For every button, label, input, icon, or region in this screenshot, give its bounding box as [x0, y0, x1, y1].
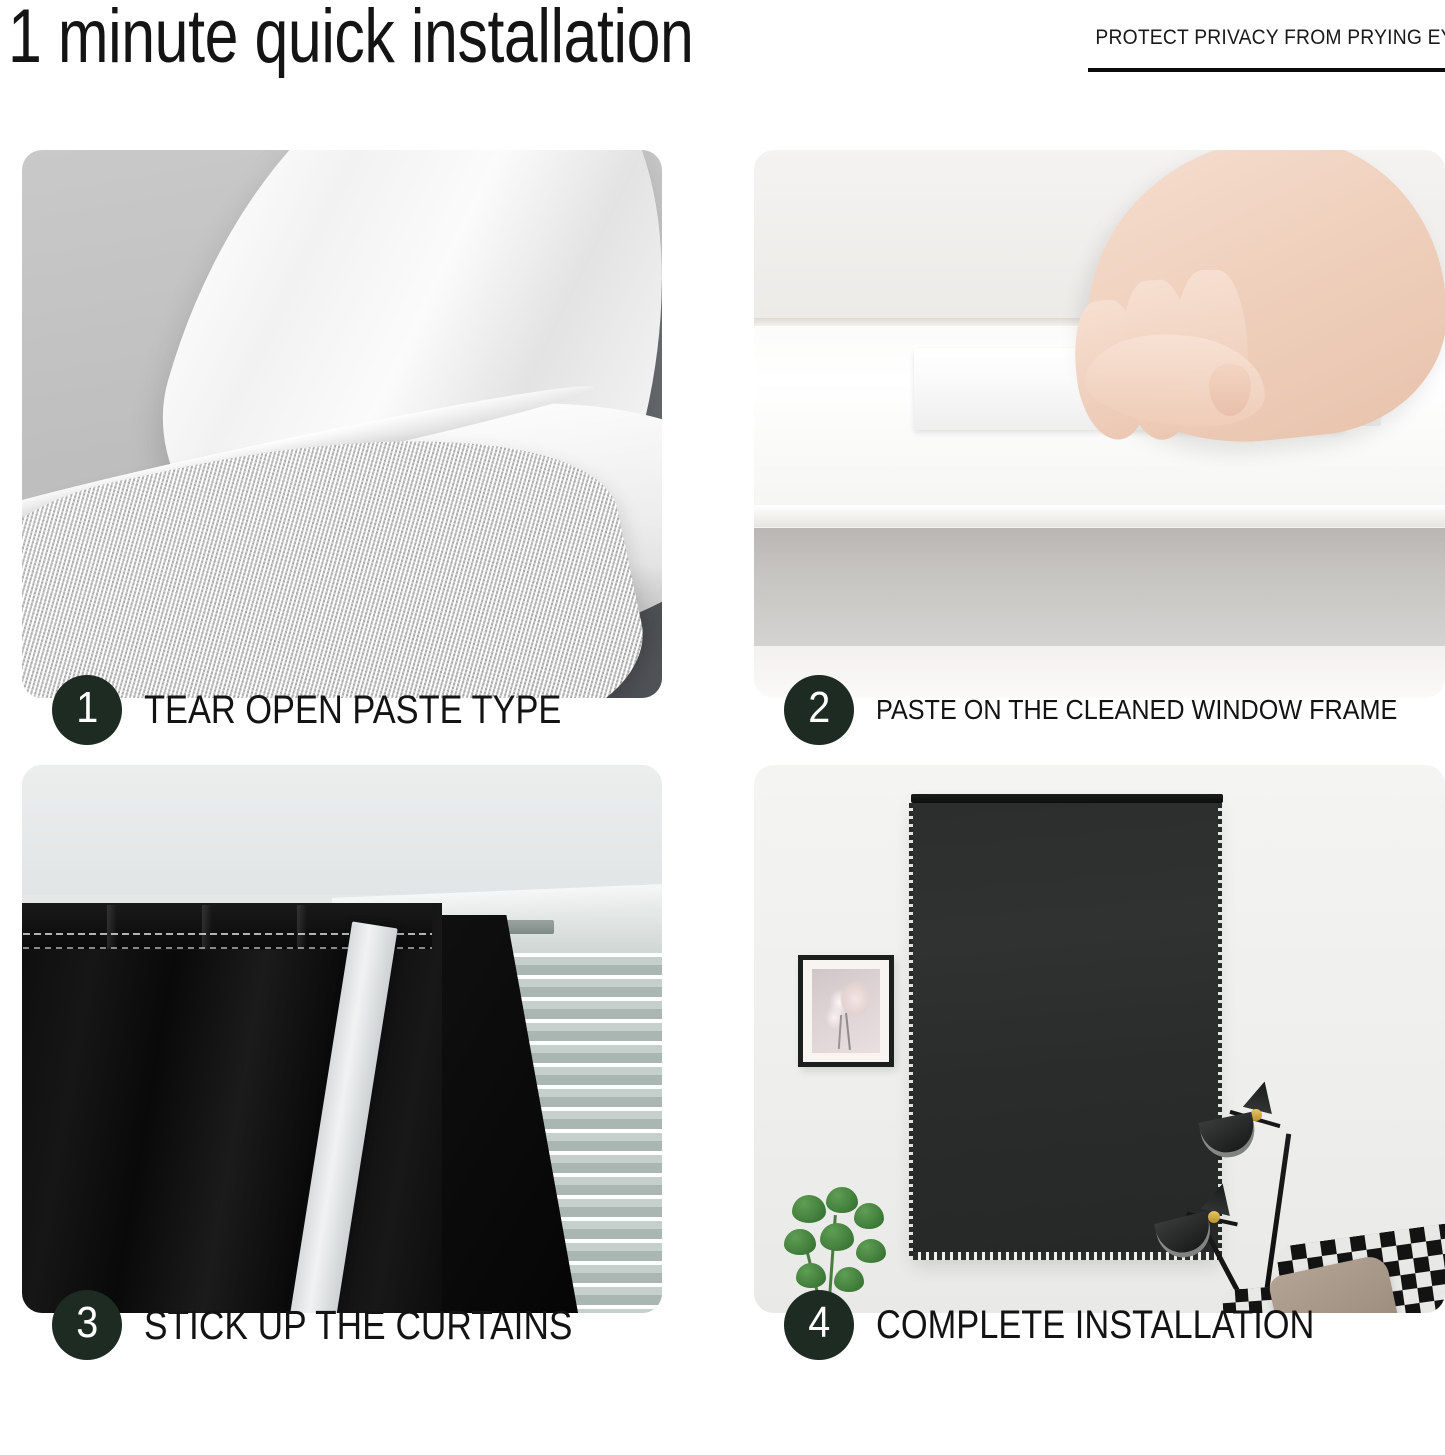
step-caption-4: 4 COMPLETE INSTALLATION	[754, 1283, 1445, 1367]
curtain-pleat	[202, 905, 212, 949]
flower-stem	[838, 1015, 842, 1049]
curtain-top-bar	[911, 794, 1223, 803]
tulip-artwork	[812, 969, 880, 1053]
window-frame-bottom	[754, 505, 1445, 527]
plant-leaf	[784, 1229, 816, 1255]
wall-gray-band	[754, 528, 1445, 646]
tagline-block: PROTECT PRIVACY FROM PRYING EYES	[1065, 26, 1445, 50]
lamp-brass-joint-lower	[1208, 1211, 1220, 1223]
picture-mat	[803, 960, 889, 1062]
step-number-1: 1	[76, 686, 98, 730]
hand-pasting-tape-on-window-frame-photo	[754, 150, 1445, 698]
step-card-2: 2 PASTE ON THE CLEANED WINDOW FRAME	[754, 150, 1445, 770]
installed-black-curtain	[913, 798, 1218, 1258]
step-badge-4: 4	[784, 1290, 854, 1360]
curtain-pleat	[297, 905, 307, 949]
framed-picture	[798, 955, 894, 1067]
step-card-1: 1 TEAR OPEN PASTE TYPE	[22, 150, 662, 770]
step-caption-2: 2 PASTE ON THE CLEANED WINDOW FRAME	[754, 668, 1445, 752]
ceiling	[22, 765, 662, 895]
blinds-bracket	[502, 920, 554, 934]
infographic-page: 1 minute quick installation PROTECT PRIV…	[0, 0, 1445, 1455]
step-caption-3: 3 STICK UP THE CURTAINS	[22, 1283, 662, 1367]
tagline-underline	[1088, 68, 1445, 72]
plant-leaf	[854, 1203, 884, 1229]
step-card-3: 3 STICK UP THE CURTAINS	[22, 765, 662, 1385]
plant-leaf	[792, 1195, 826, 1223]
header: 1 minute quick installation PROTECT PRIV…	[0, 0, 1445, 140]
step-number-3: 3	[76, 1301, 98, 1345]
step-number-4: 4	[808, 1301, 830, 1345]
flower-stem	[845, 1013, 851, 1050]
step-number-2: 2	[808, 686, 830, 730]
step-caption-text-3: STICK UP THE CURTAINS	[144, 1302, 572, 1349]
steps-grid: 1 TEAR OPEN PASTE TYPE	[0, 150, 1445, 1450]
page-title: 1 minute quick installation	[8, 0, 693, 80]
step-badge-3: 3	[52, 1290, 122, 1360]
plant-leaf	[826, 1187, 858, 1213]
step-badge-1: 1	[52, 675, 122, 745]
step-caption-text-4: COMPLETE INSTALLATION	[876, 1303, 1314, 1348]
plant-leaf	[856, 1239, 886, 1263]
step-caption-text-1: TEAR OPEN PASTE TYPE	[144, 688, 561, 733]
step-card-4: 4 COMPLETE INSTALLATION	[754, 765, 1445, 1385]
step-caption-text-2: PASTE ON THE CLEANED WINDOW FRAME	[876, 694, 1397, 726]
black-curtain-with-velcro-strip-photo	[22, 765, 662, 1313]
velcro-tape-closeup-photo	[22, 150, 662, 698]
step-badge-2: 2	[784, 675, 854, 745]
curtain-pleat	[107, 905, 117, 949]
tagline-text: PROTECT PRIVACY FROM PRYING EYES	[1095, 26, 1445, 50]
installed-blackout-curtain-room-photo	[754, 765, 1445, 1313]
step-caption-1: 1 TEAR OPEN PASTE TYPE	[22, 668, 662, 752]
plant-leaf	[820, 1223, 854, 1251]
